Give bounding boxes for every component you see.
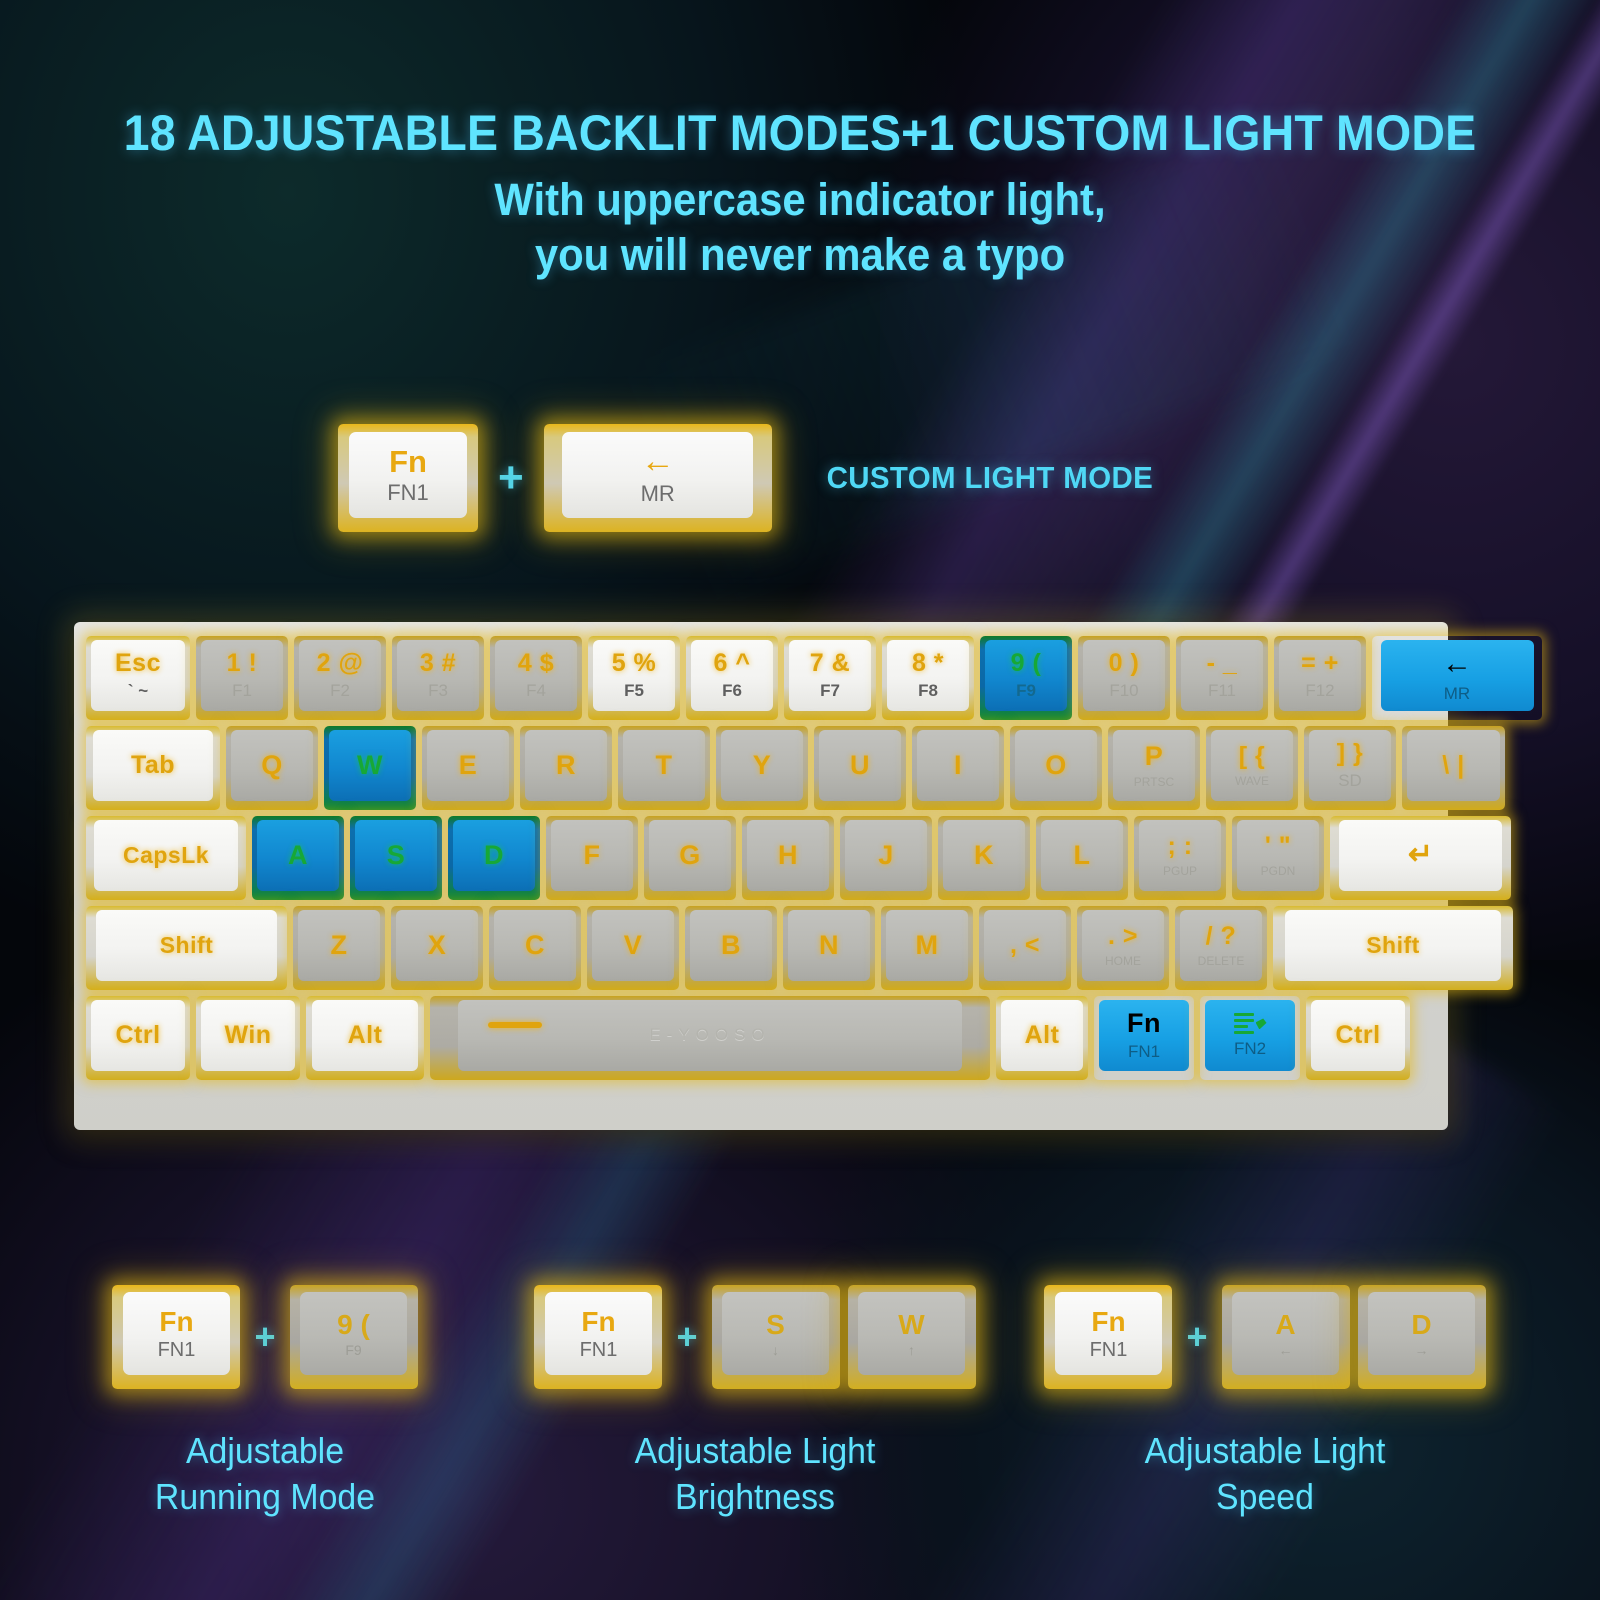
key-face: C — [494, 910, 577, 981]
key-face: ↵ — [1339, 820, 1502, 891]
key-sublegend: HOME — [1105, 955, 1141, 967]
keycap-target-legend: 9 ( — [337, 1311, 370, 1339]
key-legend: . > — [1108, 924, 1138, 949]
key-sublegend: MR — [1444, 685, 1470, 702]
key-face: B — [690, 910, 773, 981]
key-k[interactable]: K — [938, 816, 1030, 900]
key-[interactable]: \ | — [1402, 726, 1505, 810]
key-0[interactable]: 0 )F10 — [1078, 636, 1170, 720]
key-face: 4 $F4 — [495, 640, 578, 711]
key-legend: B — [721, 932, 741, 959]
key-fn[interactable]: FnFN1 — [1094, 996, 1194, 1080]
feature-light-brightness: Fn FN1 + S ↓ W ↑ Adjustable Light Bright… — [515, 1272, 995, 1520]
keycap-target: D → — [1358, 1285, 1486, 1389]
key[interactable]: ↵ — [1330, 816, 1511, 900]
key-ctrl[interactable]: Ctrl — [86, 996, 190, 1080]
feature-running-mode: Fn FN1 + 9 ( F9 Adjustable Running Mode — [25, 1272, 505, 1520]
key-legend: 3 # — [420, 651, 456, 676]
key-legend: [ { — [1239, 744, 1266, 769]
key-o[interactable]: O — [1010, 726, 1102, 810]
keycap-fn-sublegend: FN1 — [387, 482, 429, 504]
key-sublegend: F2 — [330, 682, 350, 699]
key-legend: T — [656, 752, 673, 779]
key-face: PPRTSC — [1113, 730, 1196, 801]
key-w[interactable]: W — [324, 726, 416, 810]
key-space[interactable]: E-YOOSO — [430, 996, 990, 1080]
custom-light-mode-label: CUSTOM LIGHT MODE — [826, 460, 1153, 496]
key-legend: ] } — [1337, 741, 1364, 766]
key-legend: Alt — [1025, 1023, 1060, 1048]
key-y[interactable]: Y — [716, 726, 808, 810]
keycap-target-sublegend: F9 — [345, 1343, 361, 1357]
key-z[interactable]: Z — [293, 906, 385, 990]
key-legend: 9 ( — [1011, 651, 1042, 676]
keycap-fn-legend: Fn — [581, 1308, 615, 1336]
key-legend: 1 ! — [227, 651, 258, 676]
key-face: T — [623, 730, 706, 801]
key-capslk[interactable]: CapsLk — [86, 816, 246, 900]
feature-target-keys: S ↓ W ↑ — [712, 1285, 976, 1389]
key-f[interactable]: F — [546, 816, 638, 900]
key-legend: X — [428, 932, 447, 959]
key-legend: 2 @ — [317, 651, 364, 676]
key-sublegend: F12 — [1305, 682, 1334, 699]
headline-sub-line1: With uppercase indicator light, — [56, 173, 1544, 228]
key-legend: A — [288, 842, 308, 869]
feature-caption-line1: Adjustable Light — [529, 1428, 980, 1474]
keyboard-row: CtrlWinAltE-YOOSOAltFnFN1FN2Ctrl — [86, 996, 1436, 1080]
key-face: H — [747, 820, 830, 891]
key-c[interactable]: C — [489, 906, 581, 990]
key-legend: Esc — [115, 651, 161, 676]
key-face: 9 (F9 — [985, 640, 1068, 711]
key-legend: ' " — [1265, 834, 1291, 859]
feature-combo: Fn FN1 + 9 ( F9 — [25, 1272, 505, 1402]
key-u[interactable]: U — [814, 726, 906, 810]
key-[interactable]: ' "PGDN — [1232, 816, 1324, 900]
key-a[interactable]: A — [252, 816, 344, 900]
key-face: O — [1015, 730, 1098, 801]
key-d[interactable]: D — [448, 816, 540, 900]
key-legend: Q — [261, 752, 283, 779]
key-face: R — [525, 730, 608, 801]
feature-caption-line2: Running Mode — [39, 1474, 490, 1520]
headline-sub-line2: you will never make a typo — [56, 228, 1544, 283]
key-r[interactable]: R — [520, 726, 612, 810]
key-sublegend: SD — [1338, 772, 1362, 789]
keyboard-row: Esc` ~1 !F12 @F23 #F34 $F45 %F56 ^F67 &F… — [86, 636, 1436, 720]
key-legend: O — [1045, 752, 1067, 779]
plus-sign: + — [254, 1316, 275, 1358]
key-p[interactable]: PPRTSC — [1108, 726, 1200, 810]
feature-target-keys: A ← D → — [1222, 1285, 1486, 1389]
key-5[interactable]: 5 %F5 — [588, 636, 680, 720]
key-tab[interactable]: Tab — [86, 726, 220, 810]
left-arrow-icon: ← — [1442, 649, 1472, 679]
key-s[interactable]: S — [350, 816, 442, 900]
keycap-fn: Fn FN1 — [338, 424, 478, 532]
key-legend: C — [525, 932, 545, 959]
feature-caption-line1: Adjustable Light — [1039, 1428, 1490, 1474]
keyboard: Esc` ~1 !F12 @F23 #F34 $F45 %F56 ^F67 &F… — [74, 622, 1448, 1130]
plus-sign: + — [676, 1316, 697, 1358]
key-face: S — [355, 820, 438, 891]
keycap-target-legend: D — [1411, 1311, 1431, 1339]
key-legend: N — [819, 932, 839, 959]
key-legend: L — [1074, 842, 1091, 869]
key-face: 1 !F1 — [201, 640, 284, 711]
key-sublegend: FN1 — [1128, 1043, 1160, 1060]
key-h[interactable]: H — [742, 816, 834, 900]
key-sublegend: F3 — [428, 682, 448, 699]
key-face: ' "PGDN — [1237, 820, 1320, 891]
keyboard-keys: Esc` ~1 !F12 @F23 #F34 $F45 %F56 ^F67 &F… — [86, 636, 1436, 1114]
key-sublegend: PGDN — [1261, 865, 1296, 877]
key-esc[interactable]: Esc` ~ — [86, 636, 190, 720]
key-legend: D — [484, 842, 504, 869]
key-i[interactable]: I — [912, 726, 1004, 810]
key-9[interactable]: 9 (F9 — [980, 636, 1072, 720]
headline-block: 18 ADJUSTABLE BACKLIT MODES+1 CUSTOM LIG… — [0, 108, 1600, 283]
keycap-fn-sublegend: FN1 — [1090, 1340, 1128, 1360]
key-face: 7 &F7 — [789, 640, 872, 711]
key-face: U — [819, 730, 902, 801]
brand-logo: E-YOOSO — [649, 1025, 770, 1045]
headline-main: 18 ADJUSTABLE BACKLIT MODES+1 CUSTOM LIG… — [56, 108, 1544, 159]
key-face: E-YOOSO — [458, 1000, 962, 1071]
key-legend: \ | — [1442, 753, 1464, 778]
enter-arrow-icon: ↵ — [1408, 840, 1433, 870]
key-face: F — [551, 820, 634, 891]
key-legend: U — [850, 752, 870, 779]
key-face: Ctrl — [1311, 1000, 1405, 1071]
key-face: N — [788, 910, 871, 981]
key-face: Esc` ~ — [91, 640, 185, 711]
key-face: M — [886, 910, 969, 981]
feature-combo: Fn FN1 + A ← D → — [1025, 1272, 1505, 1402]
key-legend: = + — [1301, 651, 1339, 676]
key-face: FN2 — [1205, 1000, 1295, 1071]
key-4[interactable]: 4 $F4 — [490, 636, 582, 720]
key-legend: 6 ^ — [714, 651, 751, 676]
key-face: \ | — [1407, 730, 1500, 801]
key-legend: V — [624, 932, 643, 959]
key-sublegend: F10 — [1109, 682, 1138, 699]
feature-light-speed: Fn FN1 + A ← D → Adjustable Light Speed — [1025, 1272, 1505, 1520]
key-legend: K — [974, 842, 994, 869]
feature-caption: Adjustable Running Mode — [39, 1428, 490, 1520]
keycap-target-legend: S — [766, 1311, 785, 1339]
key-legend: Shift — [1366, 934, 1420, 957]
headline-sub: With uppercase indicator light, you will… — [56, 173, 1544, 283]
key-sublegend: F6 — [722, 682, 742, 699]
key-face: ←MR — [1381, 640, 1534, 711]
key-[interactable]: = +F12 — [1274, 636, 1366, 720]
keyboard-row: CapsLkASDFGHJKL; :PGUP' "PGDN↵ — [86, 816, 1436, 900]
key-b[interactable]: B — [685, 906, 777, 990]
key-legend: 7 & — [810, 651, 850, 676]
key-legend: 8 * — [912, 651, 944, 676]
key-face: K — [943, 820, 1026, 891]
key-legend: 4 $ — [518, 651, 554, 676]
key-sublegend: PGUP — [1163, 865, 1197, 877]
key-legend: I — [954, 752, 962, 779]
key-[interactable]: . >HOME — [1077, 906, 1169, 990]
key-[interactable]: ] }SD — [1304, 726, 1396, 810]
key-v[interactable]: V — [587, 906, 679, 990]
key-face: 6 ^F6 — [691, 640, 774, 711]
key-shift[interactable]: Shift — [86, 906, 287, 990]
key-face: ; :PGUP — [1139, 820, 1222, 891]
key-alt[interactable]: Alt — [306, 996, 424, 1080]
feature-caption: Adjustable Light Speed — [1039, 1428, 1490, 1520]
key-face: E — [427, 730, 510, 801]
key-face: Shift — [96, 910, 277, 981]
key-face: Ctrl — [91, 1000, 185, 1071]
key-m[interactable]: M — [881, 906, 973, 990]
key-legend: Ctrl — [115, 1023, 160, 1048]
key-face: CapsLk — [94, 820, 238, 891]
key-8[interactable]: 8 *F8 — [882, 636, 974, 720]
key-face: 8 *F8 — [887, 640, 970, 711]
key-legend: Shift — [160, 934, 214, 957]
key-face: . >HOME — [1082, 910, 1165, 981]
key-face: X — [396, 910, 479, 981]
key-legend: S — [387, 842, 406, 869]
key-e[interactable]: E — [422, 726, 514, 810]
feature-caption-line1: Adjustable — [39, 1428, 490, 1474]
keyboard-row: TabQWERTYUIOPPRTSC[ {WAVE] }SD\ | — [86, 726, 1436, 810]
key-face: Z — [298, 910, 381, 981]
keycap-target-sublegend: ↑ — [908, 1343, 915, 1357]
keycap-target: W ↑ — [848, 1285, 976, 1389]
key-face: Alt — [1001, 1000, 1084, 1071]
keycap-mr-sublegend: MR — [641, 483, 675, 505]
key-face: D — [453, 820, 536, 891]
key-face: / ?DELETE — [1180, 910, 1263, 981]
key-face: 3 #F3 — [397, 640, 480, 711]
key-sublegend: F7 — [820, 682, 840, 699]
keycap-fn-sublegend: FN1 — [158, 1340, 196, 1360]
key-[interactable]: , < — [979, 906, 1071, 990]
keycap-target: 9 ( F9 — [290, 1285, 418, 1389]
key-legend: H — [778, 842, 798, 869]
feature-caption: Adjustable Light Brightness — [529, 1428, 980, 1520]
keycap-target-legend: W — [898, 1311, 924, 1339]
keycap-fn: Fn FN1 — [112, 1285, 240, 1389]
key-face: J — [845, 820, 928, 891]
key-legend: Win — [224, 1023, 271, 1048]
key-face: Win — [201, 1000, 295, 1071]
feature-combo: Fn FN1 + S ↓ W ↑ — [515, 1272, 995, 1402]
key-sublegend: F1 — [232, 682, 252, 699]
key-face: A — [257, 820, 340, 891]
key-face: 0 )F10 — [1083, 640, 1166, 711]
feature-target-keys: 9 ( F9 — [290, 1285, 418, 1389]
key-face: W — [329, 730, 412, 801]
keycap-mr: ← MR — [544, 424, 772, 532]
key-legend: P — [1145, 743, 1164, 770]
key-sublegend: F8 — [918, 682, 938, 699]
key-face: Y — [721, 730, 804, 801]
key-sublegend: F5 — [624, 682, 644, 699]
key-win[interactable]: Win — [196, 996, 300, 1080]
plus-sign: + — [498, 453, 524, 503]
keycap-fn-legend: Fn — [1091, 1308, 1125, 1336]
key-sublegend: DELETE — [1198, 955, 1245, 967]
key-t[interactable]: T — [618, 726, 710, 810]
key-legend: J — [878, 842, 894, 869]
key[interactable]: ←MR — [1372, 636, 1542, 720]
key-legend: Y — [753, 752, 772, 779]
keycap-fn-legend: Fn — [159, 1308, 193, 1336]
caps-indicator-light — [488, 1022, 542, 1028]
menu-edit-icon — [1234, 1013, 1267, 1034]
key-legend: 5 % — [612, 651, 657, 676]
key-face: , < — [984, 910, 1067, 981]
key-legend: Ctrl — [1335, 1023, 1380, 1048]
key-sublegend: F11 — [1208, 682, 1236, 699]
key-face: Shift — [1285, 910, 1501, 981]
keycap-target-sublegend: ↓ — [772, 1343, 779, 1357]
keycap-target: A ← — [1222, 1285, 1350, 1389]
keycap-fn: Fn FN1 — [534, 1285, 662, 1389]
key-legend: W — [357, 752, 383, 779]
keycap-fn-sublegend: FN1 — [580, 1340, 618, 1360]
key-q[interactable]: Q — [226, 726, 318, 810]
keycap-target-sublegend: ← — [1279, 1343, 1293, 1357]
key-face: Q — [231, 730, 314, 801]
key-l[interactable]: L — [1036, 816, 1128, 900]
keycap-target-legend: A — [1275, 1311, 1295, 1339]
key-face: FnFN1 — [1099, 1000, 1189, 1071]
key-j[interactable]: J — [840, 816, 932, 900]
key-3[interactable]: 3 #F3 — [392, 636, 484, 720]
key-legend: / ? — [1206, 924, 1237, 949]
key-legend: 0 ) — [1109, 651, 1140, 676]
plus-sign: + — [1186, 1316, 1207, 1358]
key-legend: Fn — [1127, 1010, 1161, 1037]
key-legend: Tab — [131, 753, 175, 778]
key-7[interactable]: 7 &F7 — [784, 636, 876, 720]
key-legend: Alt — [348, 1023, 383, 1048]
key-6[interactable]: 6 ^F6 — [686, 636, 778, 720]
key-legend: CapsLk — [123, 844, 209, 867]
key-face: Alt — [312, 1000, 418, 1071]
keycap-fn: Fn FN1 — [1044, 1285, 1172, 1389]
feature-caption-line2: Speed — [1039, 1474, 1490, 1520]
key-shift[interactable]: Shift — [1273, 906, 1513, 990]
left-arrow-icon: ← — [641, 444, 675, 478]
key-ctrl[interactable]: Ctrl — [1306, 996, 1410, 1080]
feature-caption-line2: Brightness — [529, 1474, 980, 1520]
key-legend: M — [916, 932, 939, 959]
key-legend: - _ — [1207, 651, 1238, 676]
key-sublegend: F9 — [1016, 682, 1036, 699]
key-face: ] }SD — [1309, 730, 1392, 801]
key-2[interactable]: 2 @F2 — [294, 636, 386, 720]
key-[interactable]: / ?DELETE — [1175, 906, 1267, 990]
custom-light-mode-combo: Fn FN1 + ← MR CUSTOM LIGHT MODE — [338, 424, 1161, 532]
key-alt[interactable]: Alt — [996, 996, 1088, 1080]
keycap-fn-legend: Fn — [389, 446, 427, 477]
key-face: - _F11 — [1181, 640, 1264, 711]
key-legend: ; : — [1167, 834, 1192, 859]
keycap-target-sublegend: → — [1415, 1343, 1429, 1357]
key-[interactable]: - _F11 — [1176, 636, 1268, 720]
key-sublegend: PRTSC — [1134, 776, 1174, 788]
key-face: L — [1041, 820, 1124, 891]
key-face: 5 %F5 — [593, 640, 676, 711]
key-face: Tab — [93, 730, 214, 801]
key-legend: E — [459, 752, 478, 779]
key-legend: Z — [331, 932, 348, 959]
key-face: I — [917, 730, 1000, 801]
key-n[interactable]: N — [783, 906, 875, 990]
key-sublegend: F4 — [526, 682, 546, 699]
key-face: 2 @F2 — [299, 640, 382, 711]
key-[interactable]: ; :PGUP — [1134, 816, 1226, 900]
key-legend: F — [584, 842, 601, 869]
key[interactable]: FN2 — [1200, 996, 1300, 1080]
keyboard-row: ShiftZXCVBNM, <. >HOME/ ?DELETEShift — [86, 906, 1436, 990]
key-face: G — [649, 820, 732, 891]
key-sublegend: FN2 — [1234, 1040, 1266, 1057]
key-legend: R — [556, 752, 576, 779]
key-face: = +F12 — [1279, 640, 1362, 711]
key-[interactable]: [ {WAVE — [1206, 726, 1298, 810]
key-legend: G — [679, 842, 701, 869]
key-legend: , < — [1010, 933, 1040, 958]
key-g[interactable]: G — [644, 816, 736, 900]
key-sublegend: WAVE — [1235, 775, 1269, 787]
key-x[interactable]: X — [391, 906, 483, 990]
key-sublegend: ` ~ — [128, 682, 148, 699]
key-face: V — [592, 910, 675, 981]
key-face: [ {WAVE — [1211, 730, 1294, 801]
keycap-target: S ↓ — [712, 1285, 840, 1389]
key-1[interactable]: 1 !F1 — [196, 636, 288, 720]
